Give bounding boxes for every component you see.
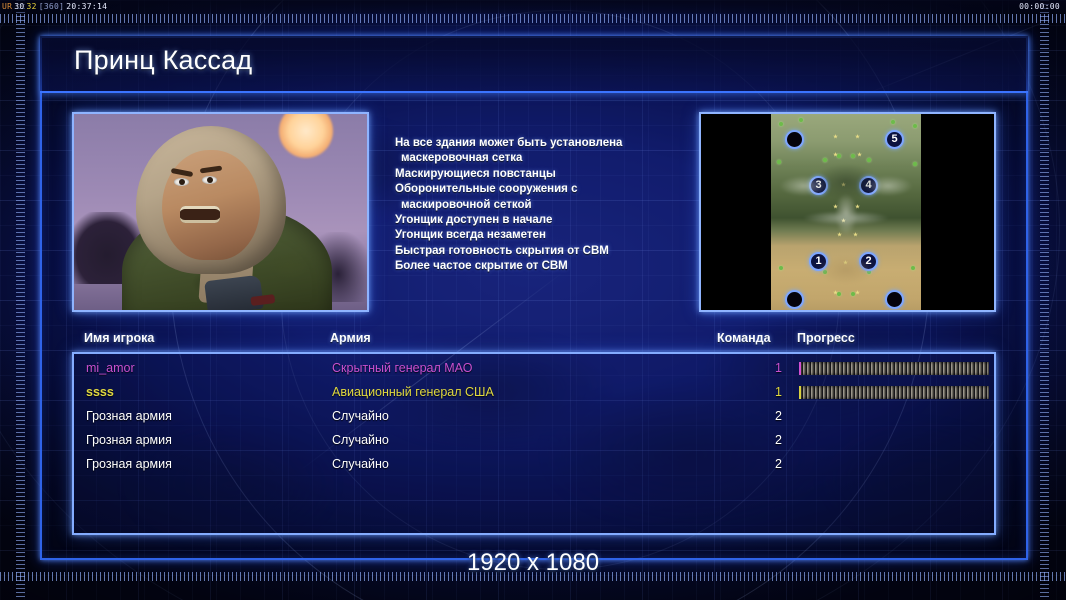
title-bar: Принц Кассад [40,36,1028,93]
top-status-bar: UR3032[360]20:37:14 00:00:00 [0,0,1066,13]
lobby-frame: Принц Кассад На все здания может быть ус… [40,36,1028,560]
map-preview[interactable]: 3 4 5 1 2 [699,112,996,312]
progress-bar [799,362,989,375]
map-spawn-point[interactable]: 1 [809,252,828,271]
debug-readout: UR3032[360]20:37:14 [2,0,109,13]
general-portrait [72,112,369,312]
debug-number-2: 32 [26,2,36,11]
progress-bar [799,386,989,399]
table-row[interactable]: ssss Авиационный генерал США 1 [74,382,994,406]
player-army[interactable]: Случайно [332,433,389,447]
description-line: маскеровочная сетка [395,151,693,166]
column-header-army: Армия [330,331,371,345]
column-header-team: Команда [717,331,771,345]
ruler-strip-left [16,0,25,600]
description-line: Оборонительные сооружения с [395,182,693,197]
map-spawn-point[interactable] [785,290,804,309]
table-row[interactable]: Грозная армия Случайно 2 [74,430,994,454]
description-line: Быстрая готовность скрытия от СВМ [395,244,693,259]
debug-bracket: [360] [39,2,65,11]
player-list-section: Имя игрока Армия Команда Прогресс mi_amo… [72,331,996,535]
description-line: маскировочной сеткой [395,198,693,213]
column-header-name: Имя игрока [84,331,154,345]
table-row[interactable]: Грозная армия Случайно 2 [74,454,994,478]
map-spawn-point[interactable] [885,290,904,309]
player-progress [799,362,989,375]
debug-prefix: UR [2,2,12,11]
player-list-headers: Имя игрока Армия Команда Прогресс [72,331,996,351]
portrait-mouth [180,206,220,223]
player-name[interactable]: Грозная армия [86,409,172,423]
resolution-overlay: 1920 x 1080 [0,549,1066,577]
player-team[interactable]: 1 [746,361,782,375]
player-name[interactable]: ssss [86,385,114,399]
description-line: Маскирующиеся повстанцы [395,167,693,182]
description-line: Угонщик доступен в начале [395,213,693,228]
column-header-progress: Прогресс [797,331,855,345]
description-line: На все здания может быть установлена [395,136,693,151]
player-team[interactable]: 2 [746,457,782,471]
info-row: На все здания может быть установлена мас… [72,112,996,312]
portrait-eye-left [174,178,189,186]
debug-number-1: 30 [14,2,24,11]
map-spawn-point[interactable]: 3 [809,176,828,195]
player-name[interactable]: Грозная армия [86,433,172,447]
portrait-weapon [204,275,264,312]
map-terrain: 3 4 5 1 2 [771,114,921,312]
general-description: На все здания может быть установлена мас… [369,112,699,312]
description-line: Более частое скрытие от СВМ [395,259,693,274]
player-name[interactable]: mi_amor [86,361,135,375]
session-clock: 00:00:00 [1019,0,1060,13]
player-team[interactable]: 2 [746,409,782,423]
map-spawn-point[interactable]: 4 [859,176,878,195]
player-army[interactable]: Скрытный генерал МАО [332,361,472,375]
player-army[interactable]: Случайно [332,457,389,471]
player-list-box: mi_amor Скрытный генерал МАО 1 ssss Авиа… [72,352,996,535]
player-army[interactable]: Случайно [332,409,389,423]
player-progress [799,386,989,399]
portrait-eye-right [202,176,217,184]
debug-time: 20:37:14 [66,2,107,11]
player-name[interactable]: Грозная армия [86,457,172,471]
map-spawn-point[interactable]: 5 [885,130,904,149]
player-team[interactable]: 1 [746,385,782,399]
player-army[interactable]: Авиационный генерал США [332,385,494,399]
table-row[interactable]: Грозная армия Случайно 2 [74,406,994,430]
ruler-strip-top [0,14,1066,23]
ruler-strip-right [1040,0,1049,600]
table-row[interactable]: mi_amor Скрытный генерал МАО 1 [74,358,994,382]
map-spawn-point[interactable]: 2 [859,252,878,271]
map-spawn-point[interactable] [785,130,804,149]
page-title: Принц Кассад [74,45,252,76]
description-list: На все здания может быть установлена мас… [395,136,693,275]
player-team[interactable]: 2 [746,433,782,447]
description-line: Угонщик всегда незаметен [395,228,693,243]
